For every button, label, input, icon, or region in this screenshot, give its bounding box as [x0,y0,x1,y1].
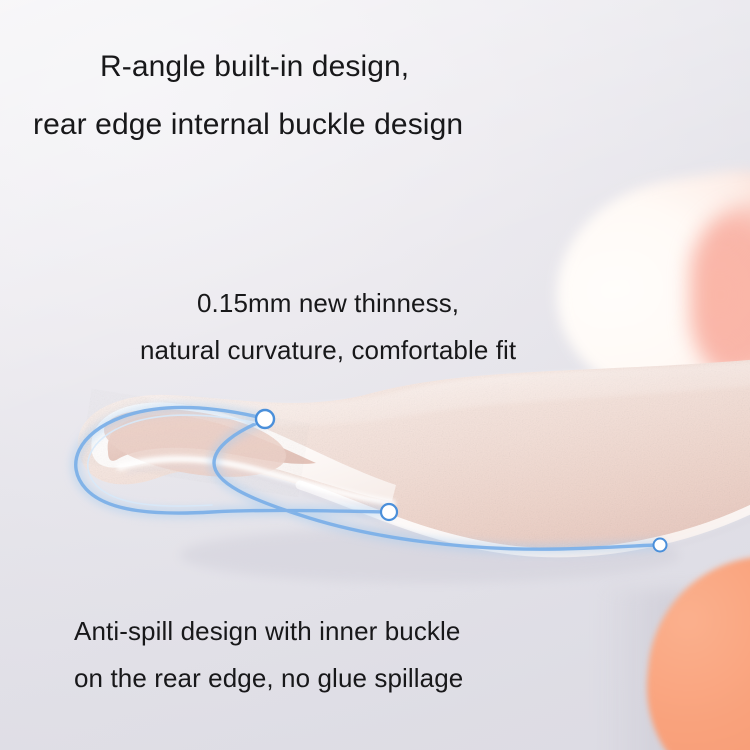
middle-caption-line-1: 0.15mm new thinness, [197,284,459,322]
middle-caption-line-2: natural curvature, comfortable fit [140,331,516,369]
annotation-line-glow [76,407,660,549]
edge-annotation-overlay [0,355,750,615]
product-marketing-image: R-angle built-in design, rear edge inter… [0,0,750,750]
bottom-caption-line-2: on the rear edge, no glue spillage [74,659,463,697]
rear-edge-marker [654,539,667,552]
headline-line-1: R-angle built-in design, [100,47,409,87]
product-photo [0,355,750,615]
annotation-edge-path [76,407,660,549]
bottom-caption-line-1: Anti-spill design with inner buckle [74,612,460,650]
annotation-markers [256,410,667,552]
inner-buckle-marker [381,504,397,520]
headline-line-2: rear edge internal buckle design [33,105,463,145]
curl-tip-marker [256,410,274,428]
